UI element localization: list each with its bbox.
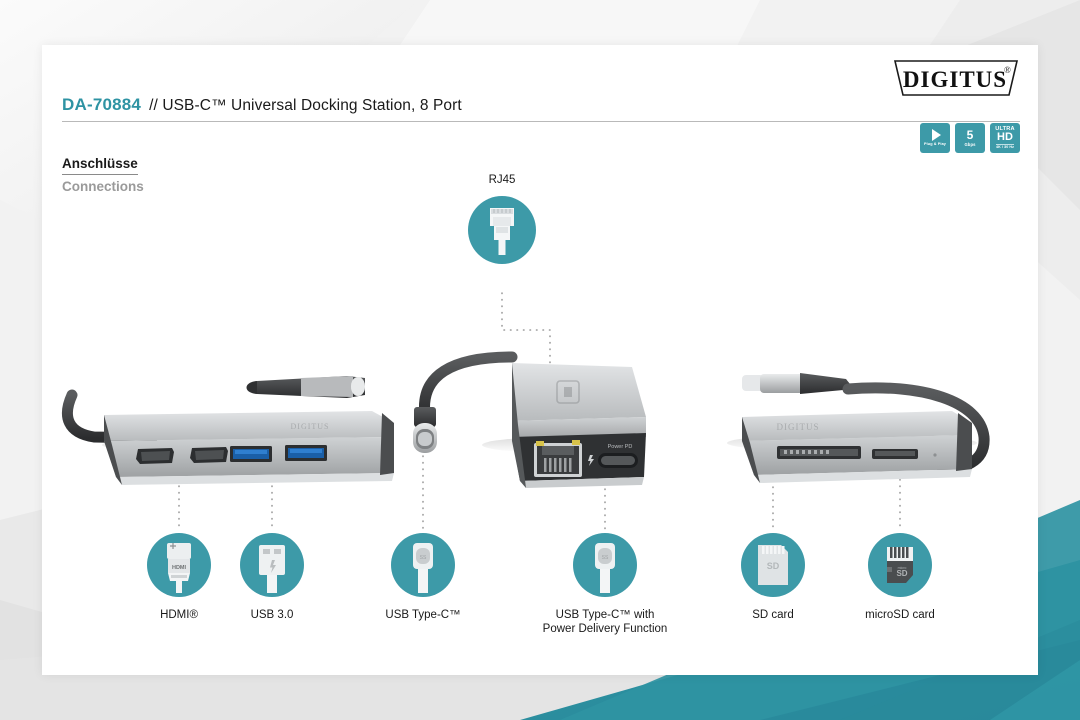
sd-card-text: SD: [767, 561, 780, 571]
label-usb3: USB 3.0: [222, 608, 322, 622]
card-reader-engraved-logo: DIGITUS: [777, 422, 820, 432]
callout-hdmi: HDMI: [147, 533, 211, 597]
product-dock-rear: Power PD: [413, 357, 646, 488]
label-hdmi: HDMI®: [129, 608, 229, 622]
slot-microsd: [872, 449, 918, 459]
hdmi-card-text: HDMI: [172, 565, 187, 571]
product-dock-front: DIGITUS: [67, 376, 394, 485]
diagram-stage: DIGITUS: [42, 45, 1038, 675]
label-usb-c-pd: USB Type-C™ with Power Delivery Function: [510, 608, 700, 636]
label-sd-card: SD card: [723, 608, 823, 622]
callout-sd-card: SD: [741, 533, 805, 597]
port-hdmi-1: [136, 448, 174, 464]
label-rj45: RJ45: [452, 173, 552, 187]
svg-text:SS: SS: [602, 555, 609, 561]
callout-usb-c: SS: [391, 533, 455, 597]
callout-usb3: [240, 533, 304, 597]
callout-microsd-card: micro SD: [868, 533, 932, 597]
port-usb3-2: [285, 445, 327, 461]
callout-rj45: [468, 196, 536, 264]
slot-sd: [777, 446, 861, 459]
svg-text:SS: SS: [420, 555, 427, 561]
datasheet-card: DIGITUS ® DA-70884 // USB-C™ Universal D…: [42, 45, 1038, 675]
svg-text:SD: SD: [896, 569, 907, 578]
port-pd-label: Power PD: [608, 444, 633, 450]
label-usb-c: USB Type-C™: [353, 608, 493, 622]
port-rj45: [534, 440, 582, 477]
product-card-reader: DIGITUS: [727, 373, 984, 483]
callout-usb-c-pd: SS: [573, 533, 637, 597]
dock-front-engraved-logo: DIGITUS: [291, 422, 330, 431]
port-usb3-1: [230, 446, 272, 462]
usb-c-plug: [413, 407, 437, 453]
label-microsd-card: microSD card: [840, 608, 960, 622]
port-hdmi-2: [190, 447, 228, 463]
port-usb-c-pd: [598, 453, 638, 468]
